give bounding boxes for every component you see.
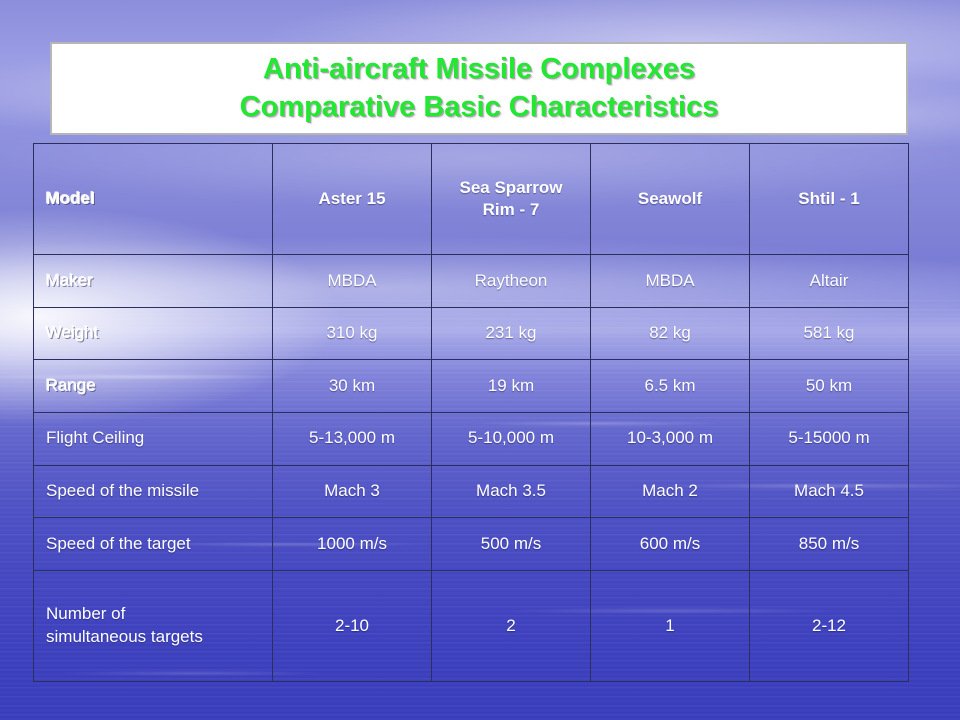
cell-speed-missile-sea-sparrow: Mach 3.5 — [432, 465, 591, 518]
cell-speed-target-shtil-1: 850 m/s — [750, 518, 909, 571]
header-cell-sea-sparrow-line2: Rim - 7 — [438, 199, 584, 221]
table-row-flight-ceiling: Flight Ceiling 5-13,000 m 5-10,000 m 10-… — [34, 412, 909, 465]
cell-weight-seawolf: 82 kg — [591, 307, 750, 360]
row-label-number-of-simultaneous-targets: Number of simultaneous targets — [34, 570, 273, 681]
cell-speed-target-seawolf: 600 m/s — [591, 518, 750, 571]
row-label-flight-ceiling: Flight Ceiling — [34, 412, 273, 465]
table-row-speed-of-the-target: Speed of the target 1000 m/s 500 m/s 600… — [34, 518, 909, 571]
header-cell-sea-sparrow: Sea Sparrow Rim - 7 — [432, 144, 591, 255]
row-label-range: Range — [34, 360, 273, 413]
row-label-simultaneous-line1: Number of — [46, 603, 266, 625]
cell-flight-ceiling-sea-sparrow: 5-10,000 m — [432, 412, 591, 465]
cell-weight-sea-sparrow: 231 kg — [432, 307, 591, 360]
header-cell-model: Model — [34, 144, 273, 255]
cell-maker-shtil-1: Altair — [750, 255, 909, 308]
title-box: Anti-aircraft Missile Complexes Comparat… — [50, 42, 908, 135]
table-header-row: Model Aster 15 Sea Sparrow Rim - 7 Seawo… — [34, 144, 909, 255]
cell-range-aster-15: 30 km — [273, 360, 432, 413]
title-line-1: Anti-aircraft Missile Complexes — [263, 51, 695, 88]
header-cell-aster-15: Aster 15 — [273, 144, 432, 255]
header-cell-shtil-1: Shtil - 1 — [750, 144, 909, 255]
cell-range-sea-sparrow: 19 km — [432, 360, 591, 413]
cell-maker-sea-sparrow: Raytheon — [432, 255, 591, 308]
header-cell-sea-sparrow-line1: Sea Sparrow — [438, 177, 584, 199]
row-label-speed-of-the-target: Speed of the target — [34, 518, 273, 571]
cell-range-seawolf: 6.5 km — [591, 360, 750, 413]
row-label-weight: Weight — [34, 307, 273, 360]
cell-speed-missile-seawolf: Mach 2 — [591, 465, 750, 518]
comparison-table: Model Aster 15 Sea Sparrow Rim - 7 Seawo… — [33, 143, 909, 682]
table-row-maker: Maker MBDA Raytheon MBDA Altair — [34, 255, 909, 308]
cell-simultaneous-shtil-1: 2-12 — [750, 570, 909, 681]
table-row-range: Range 30 km 19 km 6.5 km 50 km — [34, 360, 909, 413]
cell-speed-target-aster-15: 1000 m/s — [273, 518, 432, 571]
cell-simultaneous-aster-15: 2-10 — [273, 570, 432, 681]
cell-maker-aster-15: MBDA — [273, 255, 432, 308]
row-label-speed-of-the-missile: Speed of the missile — [34, 465, 273, 518]
table-row-number-of-simultaneous-targets: Number of simultaneous targets 2-10 2 1 … — [34, 570, 909, 681]
cell-weight-shtil-1: 581 kg — [750, 307, 909, 360]
row-label-maker: Maker — [34, 255, 273, 308]
cell-speed-missile-aster-15: Mach 3 — [273, 465, 432, 518]
header-cell-seawolf: Seawolf — [591, 144, 750, 255]
cell-simultaneous-sea-sparrow: 2 — [432, 570, 591, 681]
row-label-simultaneous-line2: simultaneous targets — [46, 626, 266, 648]
table-row-speed-of-the-missile: Speed of the missile Mach 3 Mach 3.5 Mac… — [34, 465, 909, 518]
cell-flight-ceiling-aster-15: 5-13,000 m — [273, 412, 432, 465]
cell-speed-missile-shtil-1: Mach 4.5 — [750, 465, 909, 518]
table-row-weight: Weight 310 kg 231 kg 82 kg 581 kg — [34, 307, 909, 360]
cell-maker-seawolf: MBDA — [591, 255, 750, 308]
cell-flight-ceiling-seawolf: 10-3,000 m — [591, 412, 750, 465]
title-line-2: Comparative Basic Characteristics — [240, 89, 719, 126]
cell-simultaneous-seawolf: 1 — [591, 570, 750, 681]
cell-weight-aster-15: 310 kg — [273, 307, 432, 360]
cell-speed-target-sea-sparrow: 500 m/s — [432, 518, 591, 571]
cell-flight-ceiling-shtil-1: 5-15000 m — [750, 412, 909, 465]
cell-range-shtil-1: 50 km — [750, 360, 909, 413]
